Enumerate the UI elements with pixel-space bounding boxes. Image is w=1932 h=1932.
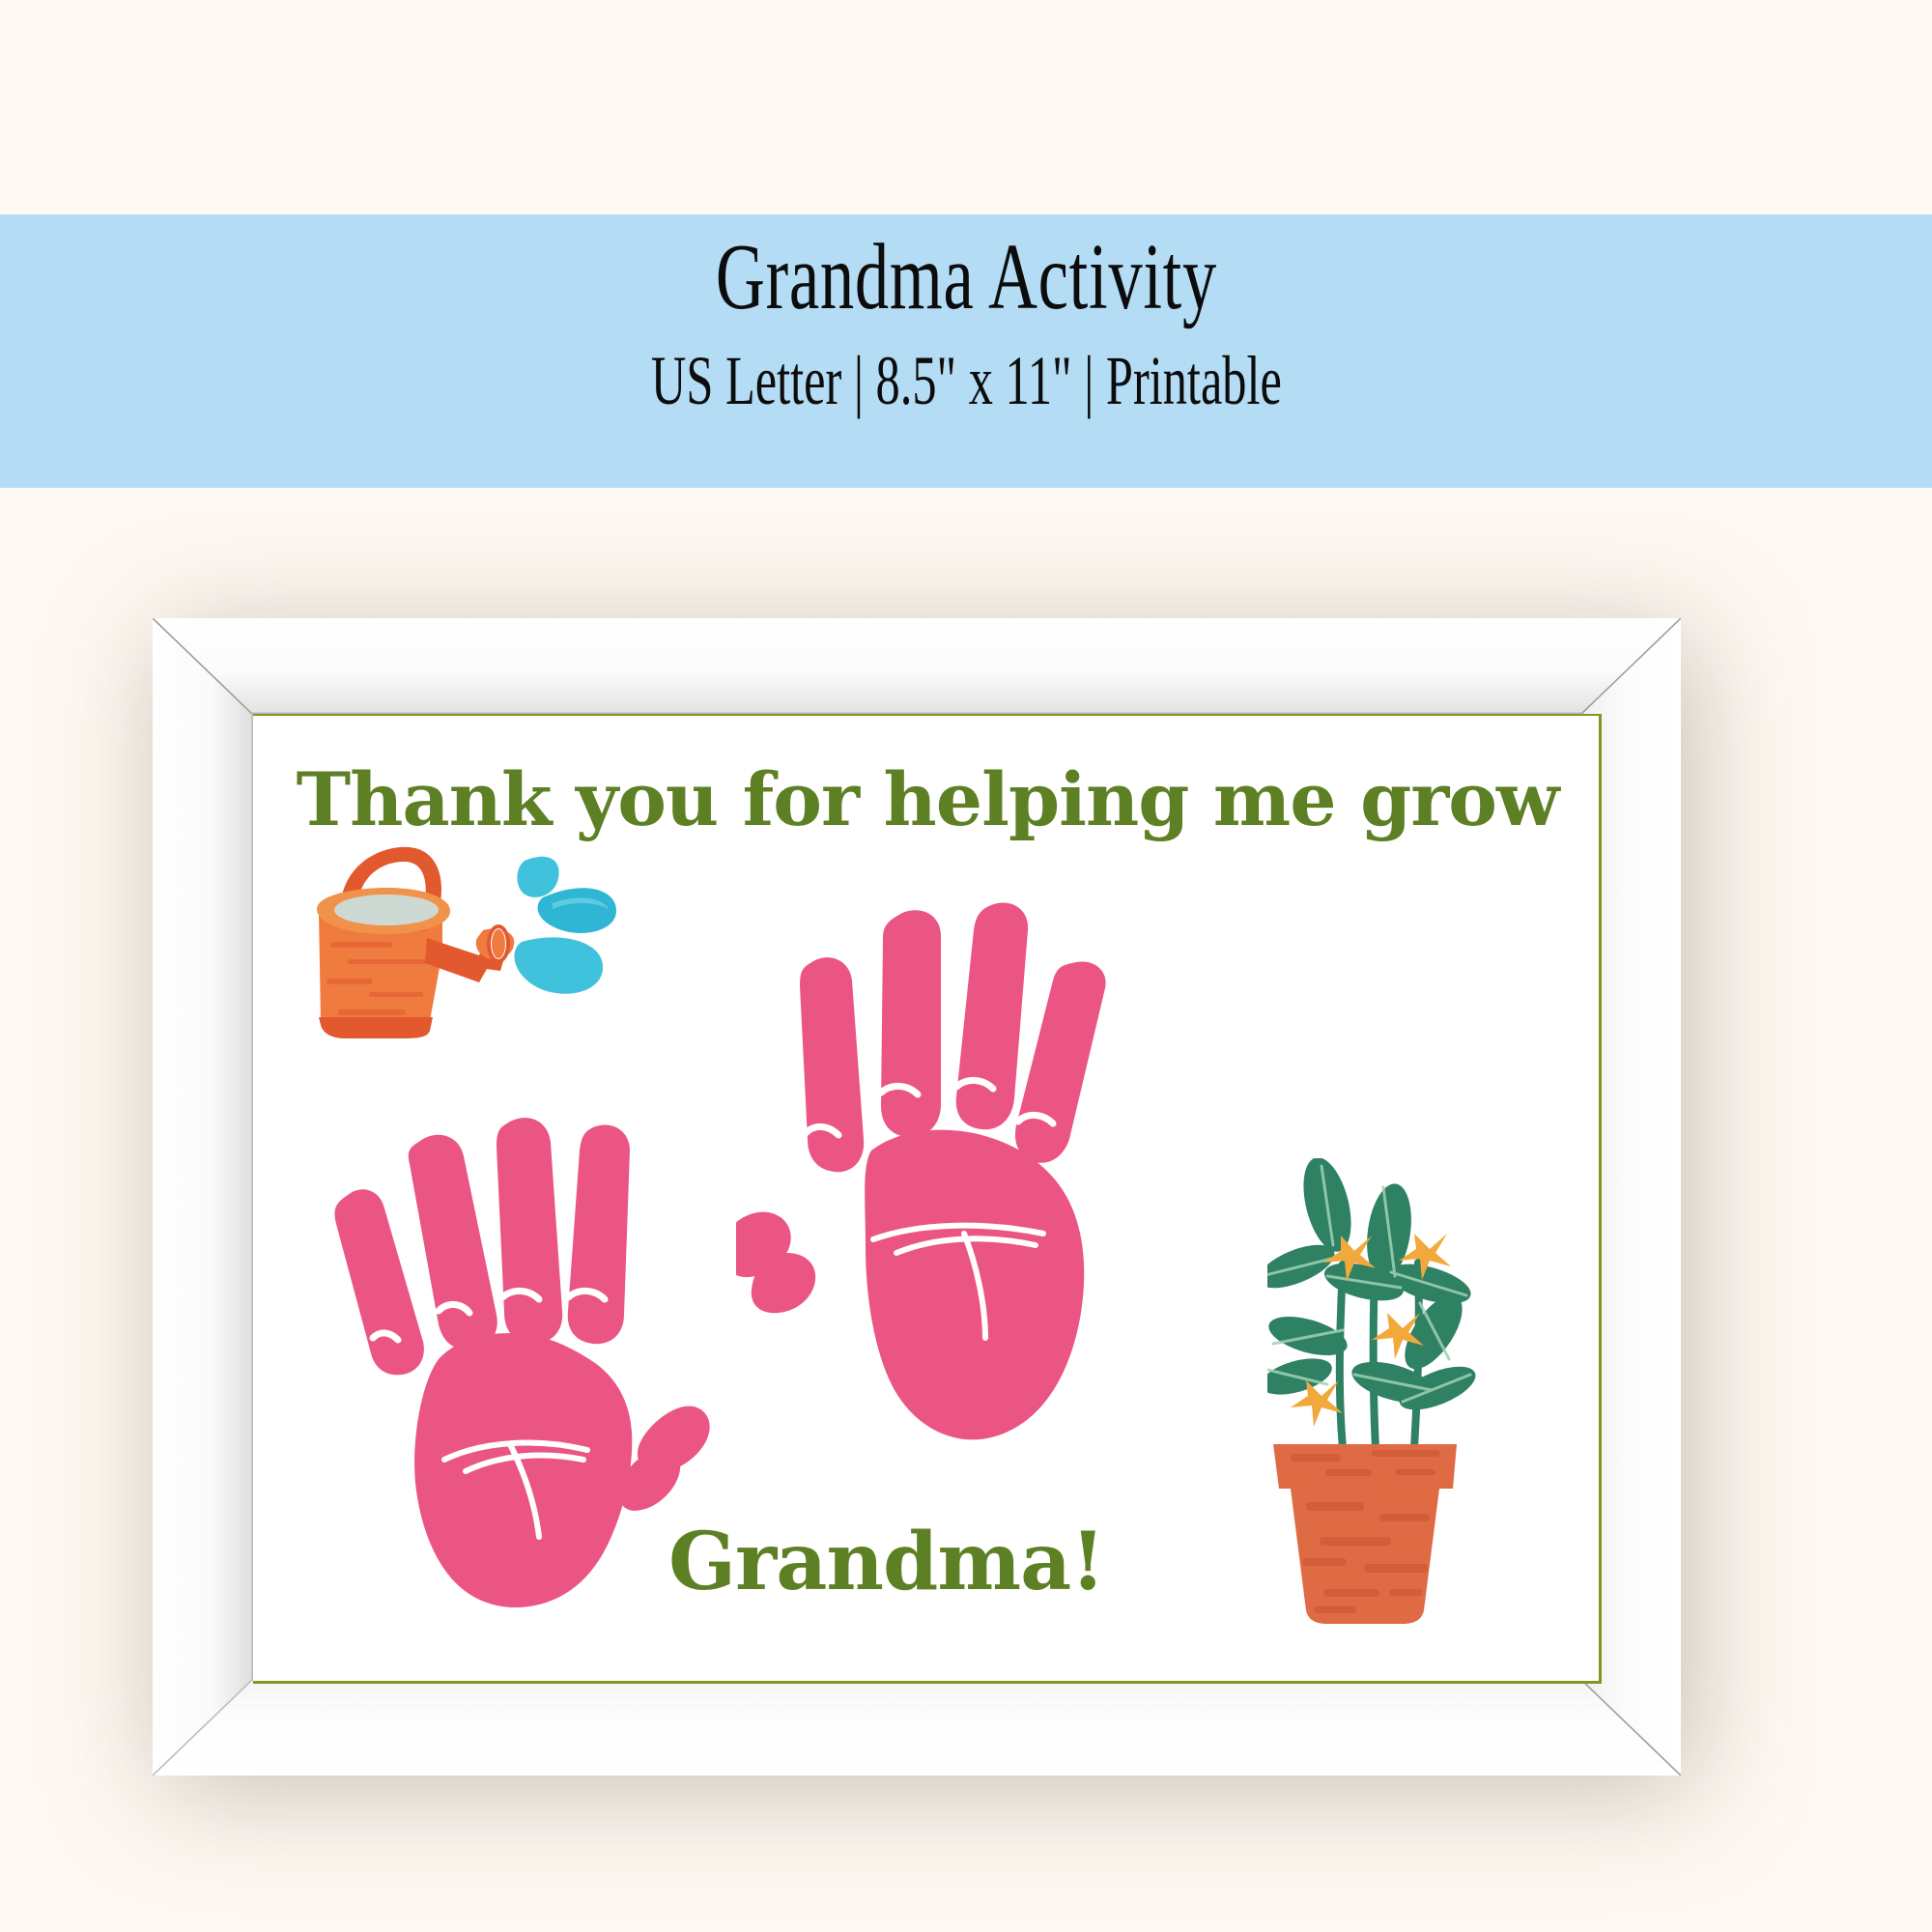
- printable-artwork: Thank you for helping me grow: [253, 714, 1602, 1684]
- handprint-left: [330, 1100, 717, 1622]
- page-title: Grandma Activity: [715, 228, 1216, 327]
- listing-banner: Grandma Activity US Letter | 8.5" x 11" …: [0, 214, 1932, 488]
- page-subtitle: US Letter | 8.5" x 11" | Printable: [651, 345, 1282, 418]
- potted-plant-illustration: [1267, 1158, 1557, 1641]
- artwork-headline: Thank you for helping me grow: [253, 756, 1602, 842]
- watering-can-illustration: [280, 838, 618, 1040]
- artwork-recipient: Grandma!: [668, 1516, 1104, 1608]
- handprint-right: [736, 897, 1122, 1458]
- water-droplets: [514, 857, 616, 994]
